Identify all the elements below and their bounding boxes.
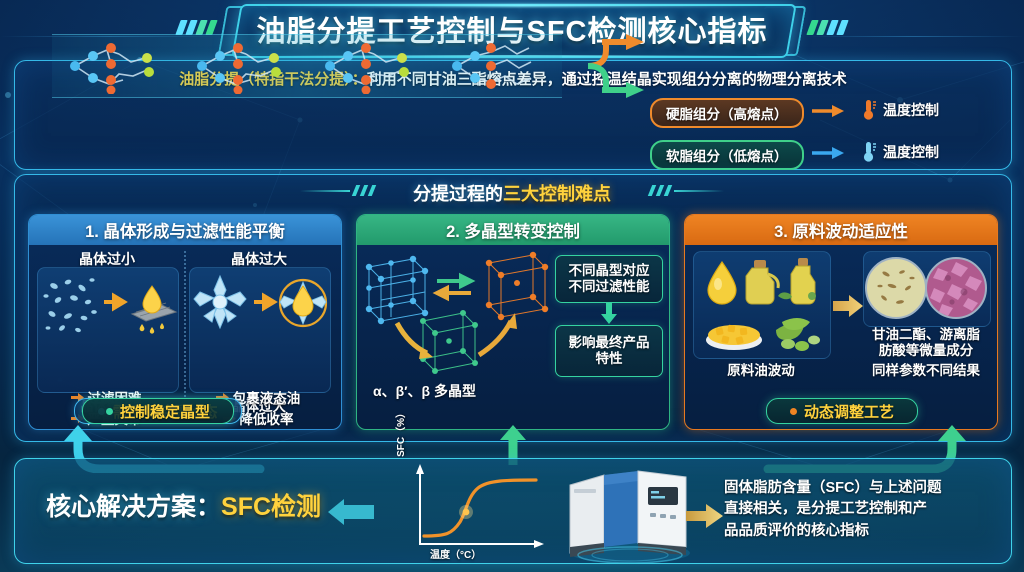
card3-conclusion-pill[interactable]: 动态调整工艺 xyxy=(766,398,918,424)
card2-down-arrow-icon xyxy=(600,303,618,325)
card3-left-caption: 原料油波动 xyxy=(693,363,829,379)
triglyceride-molecule-icon xyxy=(188,38,298,94)
card3-header: 3. 原料波动适应性 xyxy=(685,215,997,245)
solution-description: 固体脂肪含量（SFC）与上述问题 直接相关，是分提工艺控制和产 品品质评价的核心… xyxy=(724,478,1004,542)
solution-title: 核心解决方案：SFC检测 xyxy=(46,487,321,523)
cold-temperature-control-label: 温度控制 xyxy=(883,142,939,162)
card2-box-1: 不同晶型对应 不同过滤性能 xyxy=(555,255,663,303)
sfc-analyzer-icon xyxy=(556,463,706,563)
card2-polymorph-label: α、β′、β 多晶型 xyxy=(373,381,476,401)
card3-arrow-icon xyxy=(833,293,865,319)
card2-box1-line2: 不同过滤性能 xyxy=(569,279,650,294)
card3-right-caption-line2: 肪酸等微量成分 xyxy=(879,343,974,358)
large-crystal-oil-drop-icon xyxy=(190,272,330,338)
hard-fraction-pill[interactable]: 硬脂组分（高熔点） xyxy=(650,98,804,128)
card2-body: α、β′、β 多晶型 不同晶型对应 不同过滤性能 影响最终产品 特性 xyxy=(357,245,669,429)
card1-left-heading: 晶体过小 xyxy=(37,249,177,269)
card1-right-point: 包裹液态油 xyxy=(233,387,301,407)
infographic-canvas: 油脂分提工艺控制与SFC检测核心指标 油脂分提（特指干法分提）：利用不同甘油三酯… xyxy=(0,0,1024,572)
crystal-lattice-blue-icon xyxy=(369,259,425,321)
right-arrow-to-text-icon xyxy=(686,503,724,529)
solution-desc-line2: 直接相关，是分提工艺控制和产 xyxy=(724,501,927,517)
thermometer-hot-icon xyxy=(862,99,877,121)
card2-conclusion-pill[interactable]: 控制稳定晶型 xyxy=(82,398,234,424)
soft-fraction-pill[interactable]: 软脂组分（低熔点） xyxy=(650,140,804,170)
card2-box2-line2: 特性 xyxy=(596,351,623,366)
card3-right-caption-line1: 甘油二酯、游离脂 xyxy=(872,327,980,342)
card2-pill-label: 控制稳定晶型 xyxy=(120,401,210,422)
triglyceride-molecule-icon xyxy=(316,38,426,94)
section-title: 分提过程的三大控制难点 xyxy=(0,180,1024,206)
solution-title-white: 核心解决方案： xyxy=(46,493,221,521)
hot-temperature-control: 温度控制 xyxy=(862,99,939,121)
thermometer-cold-icon xyxy=(862,141,877,163)
arrow-to-cold-control-icon xyxy=(812,146,846,160)
section-title-white: 分提过程的 xyxy=(413,184,503,204)
solution-desc-line1: 固体脂肪含量（SFC）与上述问题 xyxy=(724,480,942,496)
polymorph-lattice-diagram xyxy=(361,249,561,379)
arrow-to-hot-control-icon xyxy=(812,104,846,118)
card3-right-caption-3: 同样参数不同结果 xyxy=(863,363,989,379)
triglyceride-molecule-icon xyxy=(443,38,553,94)
card1-divider xyxy=(184,251,186,401)
oils-and-seeds-icon xyxy=(694,252,830,358)
solution-title-yellow: SFC检测 xyxy=(221,493,321,521)
card1-right-heading: 晶体过大 xyxy=(189,249,329,269)
solution-desc-line3: 品品质评价的核心指标 xyxy=(724,523,869,539)
card2-pill-dot-icon xyxy=(106,408,113,415)
chart-y-axis-label: SFC（%） xyxy=(392,408,407,478)
card1-right-panel xyxy=(189,267,331,393)
card3-pill-label: 动态调整工艺 xyxy=(804,401,894,422)
card-polymorph-control[interactable]: 2. 多晶型转变控制 xyxy=(356,214,670,430)
exchange-arrows-icon xyxy=(437,276,471,298)
chart-x-axis-label: 温度（°C） xyxy=(430,546,481,561)
triglyceride-molecule-icon xyxy=(61,38,171,94)
left-arrow-icon xyxy=(326,497,374,527)
cold-temperature-control: 温度控制 xyxy=(862,141,939,163)
branch-fork-connector xyxy=(540,32,670,100)
hot-temperature-control-label: 温度控制 xyxy=(883,100,939,120)
card1-header: 1. 晶体形成与过滤性能平衡 xyxy=(29,215,341,245)
card2-header: 2. 多晶型转变控制 xyxy=(357,215,669,245)
card2-box1-line1: 不同晶型对应 xyxy=(569,263,650,278)
card3-right-caption: 甘油二酯、游离脂 肪酸等微量成分 xyxy=(863,327,989,359)
fine-crystals-filter-icon xyxy=(38,272,178,338)
card3-pill-dot-icon xyxy=(790,408,797,415)
microscope-samples-icon xyxy=(864,252,990,326)
card3-right-panel xyxy=(863,251,991,327)
triglyceride-molecule-strip xyxy=(52,34,562,98)
card2-box2-line1: 影响最终产品 xyxy=(569,335,650,350)
card2-box-2: 影响最终产品 特性 xyxy=(555,325,663,377)
card3-left-panel xyxy=(693,251,831,359)
card1-left-points: x xyxy=(37,361,177,376)
section-title-yellow: 三大控制难点 xyxy=(503,184,611,204)
